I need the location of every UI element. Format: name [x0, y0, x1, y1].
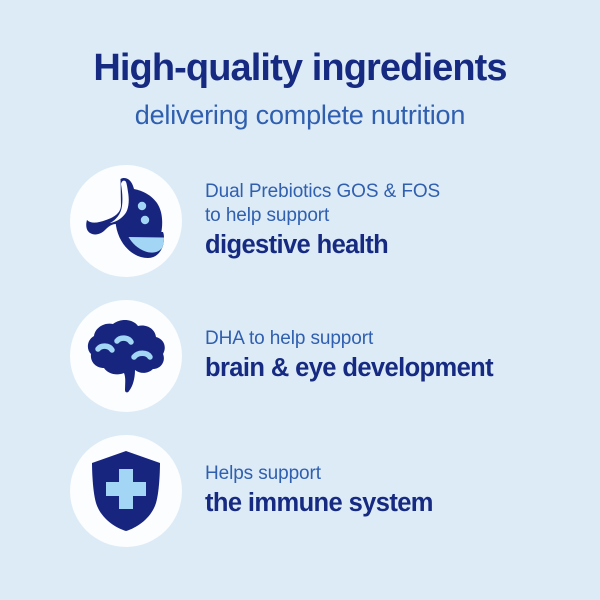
- benefit-light-line: DHA to help support: [205, 327, 493, 351]
- icon-circle-digestive: [70, 165, 182, 277]
- benefit-light-line: Helps support: [205, 462, 433, 486]
- page-subtitle: delivering complete nutrition: [0, 99, 600, 131]
- promo-graphic: High-quality ingredients delivering comp…: [0, 0, 600, 600]
- header: High-quality ingredients delivering comp…: [0, 0, 600, 131]
- benefits-list: Dual Prebiotics GOS & FOS to help suppor…: [0, 153, 600, 558]
- brain-icon: [83, 316, 169, 396]
- benefit-item-immune: Helps support the immune system: [0, 423, 600, 558]
- benefit-light-line: to help support: [205, 204, 440, 228]
- benefit-text-immune: Helps support the immune system: [205, 462, 433, 519]
- benefit-bold-line: brain & eye development: [205, 353, 493, 384]
- stomach-icon: [84, 176, 168, 266]
- shield-cross-icon: [88, 449, 164, 533]
- page-title: High-quality ingredients: [0, 48, 600, 89]
- icon-circle-brain: [70, 300, 182, 412]
- benefit-text-brain: DHA to help support brain & eye developm…: [205, 327, 493, 384]
- benefit-text-digestive: Dual Prebiotics GOS & FOS to help suppor…: [205, 180, 440, 261]
- benefit-bold-line: digestive health: [205, 230, 440, 261]
- icon-circle-immune: [70, 435, 182, 547]
- benefit-light-line: Dual Prebiotics GOS & FOS: [205, 180, 440, 204]
- benefit-bold-line: the immune system: [205, 488, 433, 519]
- benefit-item-brain: DHA to help support brain & eye developm…: [0, 288, 600, 423]
- benefit-item-digestive: Dual Prebiotics GOS & FOS to help suppor…: [0, 153, 600, 288]
